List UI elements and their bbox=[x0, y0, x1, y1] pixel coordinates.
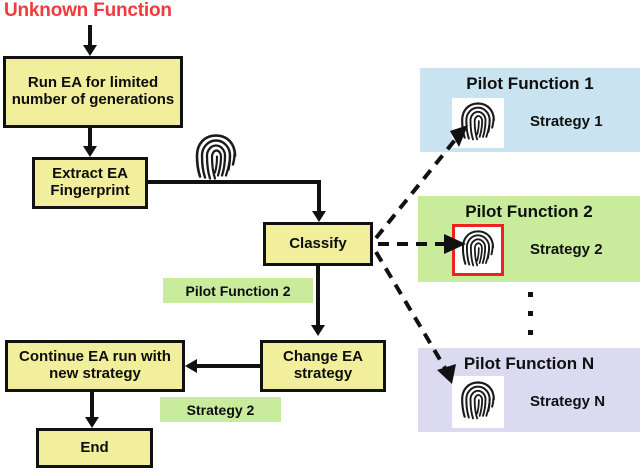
node-end[interactable]: End bbox=[36, 428, 153, 468]
page-title: Unknown Function bbox=[4, 0, 172, 22]
node-classify[interactable]: Classify bbox=[263, 222, 373, 266]
node-run-ea[interactable]: Run EA for limited number of generations bbox=[3, 56, 183, 128]
panel-pilot-function-2-title: Pilot Function 2 bbox=[418, 202, 640, 222]
fingerprint-icon bbox=[192, 129, 240, 184]
node-extract-fingerprint-label: Extract EA Fingerprint bbox=[39, 166, 141, 200]
node-end-label: End bbox=[80, 440, 108, 457]
connector-classify-to-change bbox=[316, 266, 320, 328]
arrowhead-icon bbox=[85, 417, 99, 428]
connector-extract-to-classify-drop bbox=[317, 180, 321, 214]
tag-pilot-function-2-label: Pilot Function 2 bbox=[186, 283, 291, 299]
arrowhead-icon bbox=[185, 359, 197, 373]
arrowhead-icon bbox=[311, 325, 325, 336]
panel-ellipsis bbox=[528, 292, 533, 349]
fingerprint-icon bbox=[458, 377, 498, 428]
panel-pilot-function-1-strategy: Strategy 1 bbox=[530, 113, 603, 130]
arrowhead-icon bbox=[83, 146, 97, 157]
tag-pilot-function-2: Pilot Function 2 bbox=[163, 278, 313, 303]
connector-title-to-run-ea bbox=[88, 25, 92, 47]
node-continue-run[interactable]: Continue EA run with new strategy bbox=[5, 340, 185, 392]
arrowhead-icon bbox=[83, 45, 97, 56]
fingerprint-icon bbox=[458, 98, 498, 148]
node-continue-run-label: Continue EA run with new strategy bbox=[12, 349, 178, 383]
fingerprint-icon bbox=[459, 226, 497, 275]
node-change-strategy[interactable]: Change EA strategy bbox=[260, 340, 386, 392]
panel-pilot-function-2[interactable]: Pilot Function 2 Strategy 2 bbox=[418, 196, 640, 282]
node-change-strategy-label: Change EA strategy bbox=[267, 349, 379, 383]
panel-pilot-function-1-title: Pilot Function 1 bbox=[420, 74, 640, 94]
connector-continue-to-end bbox=[90, 392, 94, 420]
panel-pilot-function-2-strategy: Strategy 2 bbox=[530, 241, 603, 258]
panel-pilot-function-n-title: Pilot Function N bbox=[418, 354, 640, 374]
node-classify-label: Classify bbox=[289, 236, 347, 253]
panel-pilot-function-2-fingerprint-tile bbox=[452, 224, 504, 276]
tag-strategy-2: Strategy 2 bbox=[160, 397, 281, 422]
connector-change-to-continue bbox=[196, 364, 260, 368]
panel-pilot-function-1-fingerprint-tile bbox=[452, 98, 504, 148]
panel-pilot-function-n[interactable]: Pilot Function N Strategy N bbox=[418, 348, 640, 432]
node-run-ea-label: Run EA for limited number of generations bbox=[10, 75, 176, 109]
panel-pilot-function-1[interactable]: Pilot Function 1 Strategy 1 bbox=[420, 68, 640, 152]
flowchart-diagram: Unknown Function Run EA for limited numb… bbox=[0, 0, 640, 471]
tag-strategy-2-label: Strategy 2 bbox=[187, 402, 255, 418]
panel-pilot-function-n-strategy: Strategy N bbox=[530, 393, 605, 410]
connector-extract-to-classify bbox=[148, 180, 321, 184]
panel-pilot-function-n-fingerprint-tile bbox=[452, 376, 504, 428]
node-extract-fingerprint[interactable]: Extract EA Fingerprint bbox=[32, 157, 148, 209]
arrowhead-icon bbox=[312, 211, 326, 222]
